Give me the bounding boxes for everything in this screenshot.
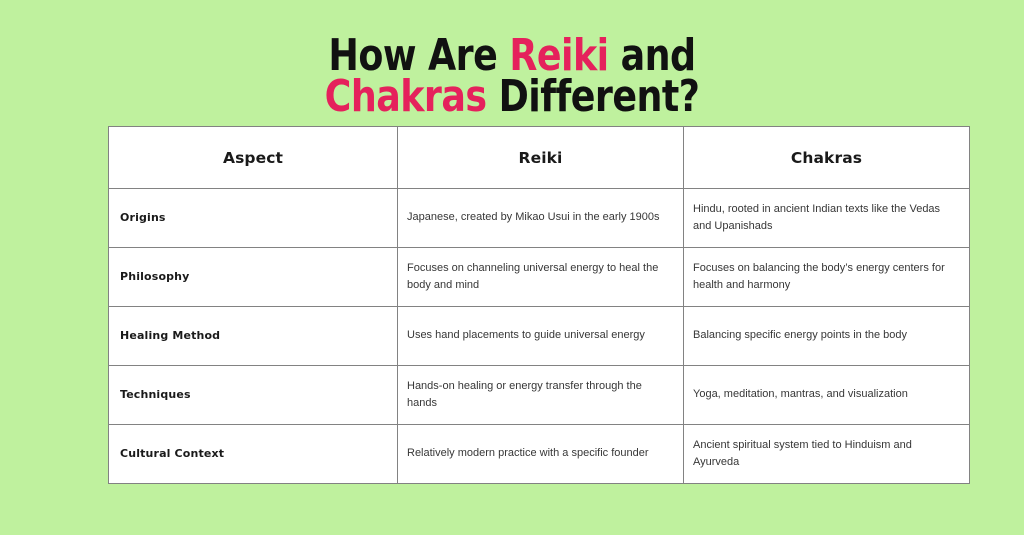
cell-aspect: Cultural Context [109,425,398,484]
infographic-page: How Are Reiki and Chakras Different? Asp… [0,0,1024,535]
cell-reiki: Japanese, created by Mikao Usui in the e… [398,189,684,248]
cell-aspect: Healing Method [109,307,398,366]
column-header-aspect: Aspect [109,127,398,189]
cell-aspect: Philosophy [109,248,398,307]
table-header: Aspect Reiki Chakras [109,127,970,189]
table-row: Cultural Context Relatively modern pract… [109,425,970,484]
cell-reiki: Focuses on channeling universal energy t… [398,248,684,307]
comparison-table: Aspect Reiki Chakras Origins Japanese, c… [108,126,970,484]
column-header-reiki: Reiki [398,127,684,189]
page-title: How Are Reiki and Chakras Different? [0,36,1024,118]
table-row: Healing Method Uses hand placements to g… [109,307,970,366]
cell-chakras: Focuses on balancing the body’s energy c… [684,248,970,307]
title-line-2: Chakras Different? [41,77,983,118]
cell-reiki: Relatively modern practice with a specif… [398,425,684,484]
table-row: Philosophy Focuses on channeling univers… [109,248,970,307]
title-text-different: Different? [486,71,699,122]
cell-chakras: Balancing specific energy points in the … [684,307,970,366]
cell-chakras: Yoga, meditation, mantras, and visualiza… [684,366,970,425]
cell-aspect: Origins [109,189,398,248]
comparison-table-container: Aspect Reiki Chakras Origins Japanese, c… [108,126,969,484]
title-highlight-chakras: Chakras [325,71,487,122]
table-row: Techniques Hands-on healing or energy tr… [109,366,970,425]
cell-reiki: Hands-on healing or energy transfer thro… [398,366,684,425]
cell-chakras: Ancient spiritual system tied to Hinduis… [684,425,970,484]
cell-chakras: Hindu, rooted in ancient Indian texts li… [684,189,970,248]
cell-reiki: Uses hand placements to guide universal … [398,307,684,366]
table-header-row: Aspect Reiki Chakras [109,127,970,189]
cell-aspect: Techniques [109,366,398,425]
table-row: Origins Japanese, created by Mikao Usui … [109,189,970,248]
table-body: Origins Japanese, created by Mikao Usui … [109,189,970,484]
column-header-chakras: Chakras [684,127,970,189]
